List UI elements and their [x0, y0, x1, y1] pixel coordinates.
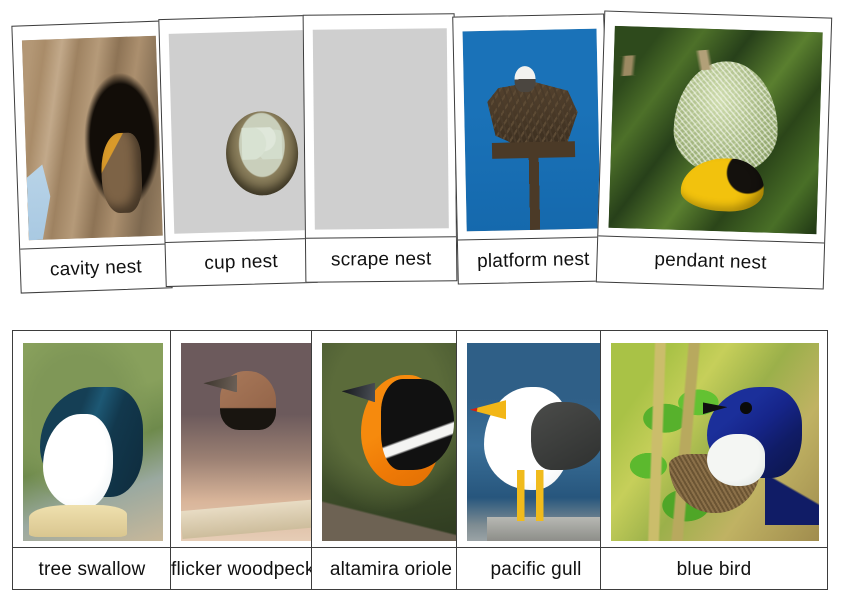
- branch-icon: [322, 474, 462, 541]
- card-divider: [171, 547, 329, 548]
- card-label-tree-swallow: tree swallow: [13, 557, 171, 583]
- legs-icon: [517, 470, 551, 521]
- flicker-woodpecker-photo: [181, 343, 321, 541]
- altamira-oriole-photo: [322, 343, 462, 541]
- card-divider: [13, 547, 171, 548]
- card-label-cup-nest: cup nest: [166, 248, 317, 278]
- cup-nest-photo: [169, 30, 309, 234]
- card-divider: [457, 547, 615, 548]
- perch-icon: [29, 505, 127, 537]
- pacific-gull-photo: [467, 343, 607, 541]
- card-scrape-nest[interactable]: scrape nest: [303, 13, 458, 283]
- card-cup-nest[interactable]: cup nest: [158, 15, 317, 287]
- bird-belly-icon: [707, 434, 765, 485]
- card-divider: [598, 235, 824, 243]
- tree-swallow-photo: [23, 343, 163, 541]
- scrape-nest-photo: [313, 28, 449, 229]
- pendant-nest-photo: [609, 26, 823, 234]
- card-label-pendant-nest: pendant nest: [597, 245, 824, 278]
- card-flicker-woodpecker[interactable]: flicker woodpecker: [170, 330, 330, 590]
- card-altamira-oriole[interactable]: altamira oriole: [311, 330, 471, 590]
- card-label-flicker-woodpecker: flicker woodpecker: [171, 557, 329, 583]
- card-label-cavity-nest: cavity nest: [21, 253, 172, 284]
- card-label-altamira-oriole: altamira oriole: [312, 557, 470, 583]
- card-cavity-nest[interactable]: cavity nest: [11, 20, 172, 293]
- card-tree-swallow[interactable]: tree swallow: [12, 330, 172, 590]
- card-label-platform-nest: platform nest: [458, 246, 609, 275]
- cavity-nest-photo: [22, 36, 163, 241]
- card-divider: [312, 547, 470, 548]
- card-blue-bird[interactable]: blue bird: [600, 330, 828, 590]
- card-divider: [20, 243, 170, 249]
- card-divider: [458, 236, 608, 240]
- card-divider: [306, 236, 456, 239]
- osprey-icon: [514, 66, 536, 92]
- card-set-canvas: cavity nest cup nest scrape nest platfor…: [0, 0, 850, 611]
- card-divider: [166, 238, 316, 243]
- platform-nest-photo: [463, 29, 601, 232]
- card-label-scrape-nest: scrape nest: [306, 246, 456, 274]
- card-divider: [601, 547, 827, 548]
- card-platform-nest[interactable]: platform nest: [452, 13, 610, 284]
- card-pacific-gull[interactable]: pacific gull: [456, 330, 616, 590]
- card-pendant-nest[interactable]: pendant nest: [596, 10, 832, 289]
- blue-bird-photo: [611, 343, 819, 541]
- card-label-blue-bird: blue bird: [601, 557, 827, 583]
- card-label-pacific-gull: pacific gull: [457, 557, 615, 583]
